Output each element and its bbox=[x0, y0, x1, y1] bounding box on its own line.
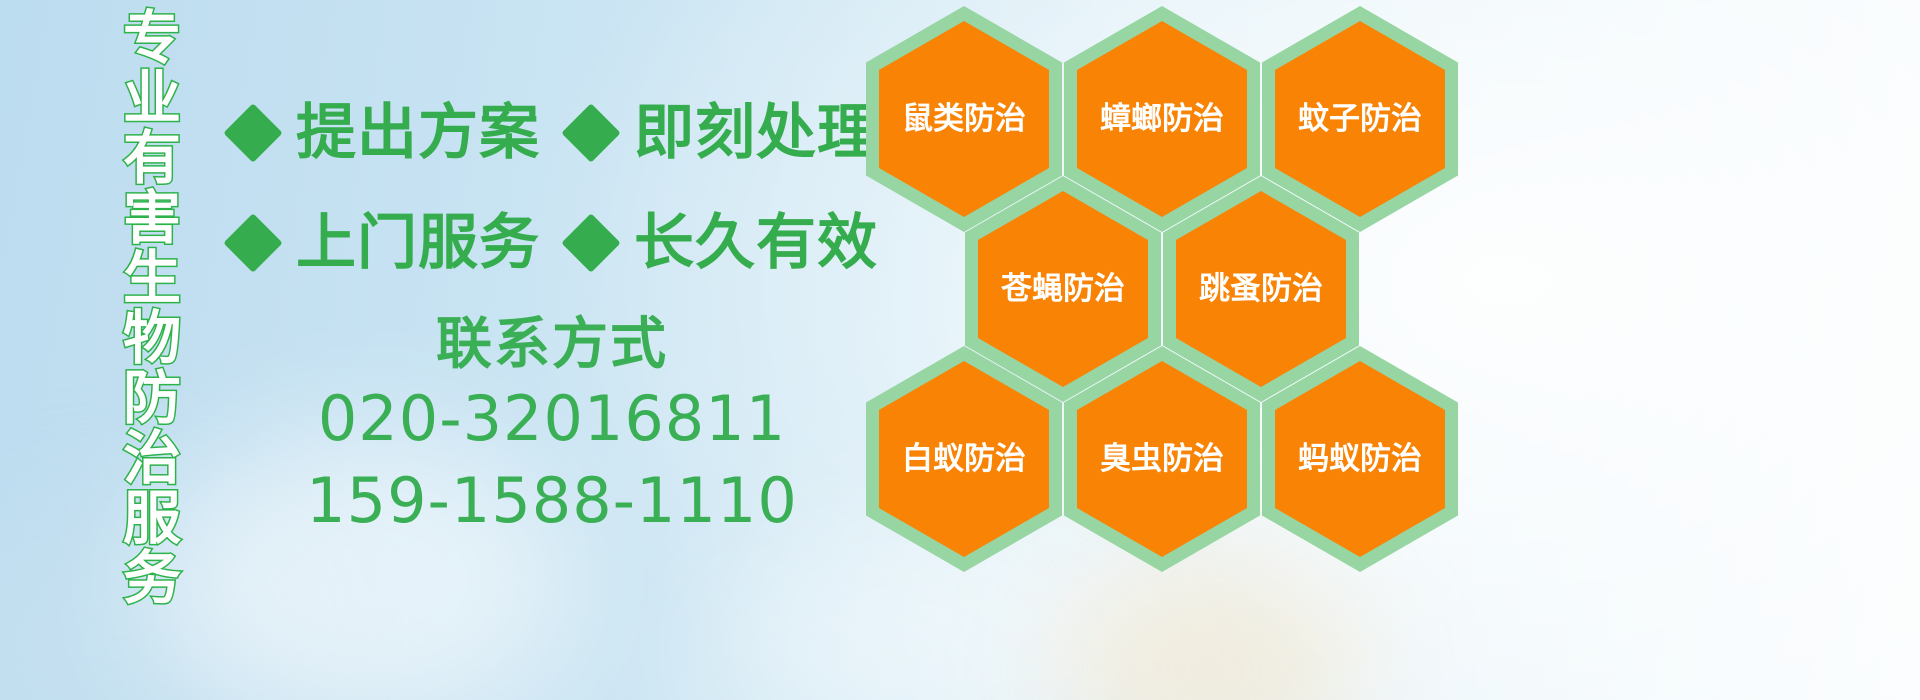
vertical-slogan-char: 专 bbox=[123, 8, 181, 68]
diamond-icon bbox=[561, 213, 620, 272]
hex-inner: 蚊子防治 bbox=[1275, 21, 1445, 217]
feature-item: 即刻处理 bbox=[570, 102, 878, 164]
service-honeycomb: 鼠类防治 蟑螂防治 蚊子防治 苍蝇防治 跳蚤防治 白蚁防治 bbox=[860, 0, 1480, 700]
hex-label: 苍蝇防治 bbox=[1001, 272, 1125, 306]
hex-inner: 蚂蚁防治 bbox=[1275, 361, 1445, 557]
vertical-slogan-char: 服 bbox=[123, 488, 181, 548]
feature-item: 长久有效 bbox=[570, 212, 878, 274]
feature-item: 提出方案 bbox=[232, 102, 540, 164]
hex-inner: 鼠类防治 bbox=[879, 21, 1049, 217]
hex-inner: 白蚁防治 bbox=[879, 361, 1049, 557]
feature-label: 长久有效 bbox=[634, 212, 878, 274]
hex-inner: 苍蝇防治 bbox=[978, 191, 1148, 387]
contact-phone-mobile[interactable]: 159-1588-1110 bbox=[232, 460, 872, 542]
feature-label: 即刻处理 bbox=[634, 102, 878, 164]
hex-label: 蚂蚁防治 bbox=[1298, 442, 1422, 476]
contact-phone-landline[interactable]: 020-32016811 bbox=[232, 378, 872, 460]
vertical-slogan-char: 物 bbox=[123, 308, 181, 368]
hex-inner: 跳蚤防治 bbox=[1176, 191, 1346, 387]
vertical-slogan-char: 有 bbox=[123, 128, 181, 188]
vertical-slogan-char: 务 bbox=[123, 548, 181, 608]
hex-inner: 臭虫防治 bbox=[1077, 361, 1247, 557]
hex-label: 蟑螂防治 bbox=[1100, 102, 1224, 136]
diamond-icon bbox=[223, 103, 282, 162]
hex-label: 鼠类防治 bbox=[902, 102, 1026, 136]
vertical-slogan-char: 生 bbox=[123, 248, 181, 308]
feature-item: 上门服务 bbox=[232, 212, 540, 274]
diamond-icon bbox=[561, 103, 620, 162]
vertical-slogan-char: 害 bbox=[123, 188, 181, 248]
hex-label: 臭虫防治 bbox=[1100, 442, 1224, 476]
diamond-icon bbox=[223, 213, 282, 272]
feature-list: 提出方案 即刻处理 上门服务 长久有效 bbox=[232, 78, 872, 298]
feature-label: 上门服务 bbox=[296, 212, 540, 274]
vertical-slogan-char: 防 bbox=[123, 368, 181, 428]
promo-banner: 专 业 有 害 生 物 防 治 服 务 提出方案 即刻处理 上门服务 bbox=[0, 0, 1920, 700]
hex-label: 跳蚤防治 bbox=[1199, 272, 1323, 306]
feature-row: 上门服务 长久有效 bbox=[232, 188, 872, 298]
feature-label: 提出方案 bbox=[296, 102, 540, 164]
hex-inner: 蟑螂防治 bbox=[1077, 21, 1247, 217]
hex-label: 白蚁防治 bbox=[902, 442, 1026, 476]
vertical-slogan-char: 业 bbox=[123, 68, 181, 128]
vertical-slogan-char: 治 bbox=[123, 428, 181, 488]
vertical-slogan: 专 业 有 害 生 物 防 治 服 务 bbox=[104, 8, 200, 568]
feature-row: 提出方案 即刻处理 bbox=[232, 78, 872, 188]
contact-block: 联系方式 020-32016811 159-1588-1110 bbox=[232, 312, 872, 542]
contact-title: 联系方式 bbox=[232, 312, 872, 378]
hex-label: 蚊子防治 bbox=[1298, 102, 1422, 136]
